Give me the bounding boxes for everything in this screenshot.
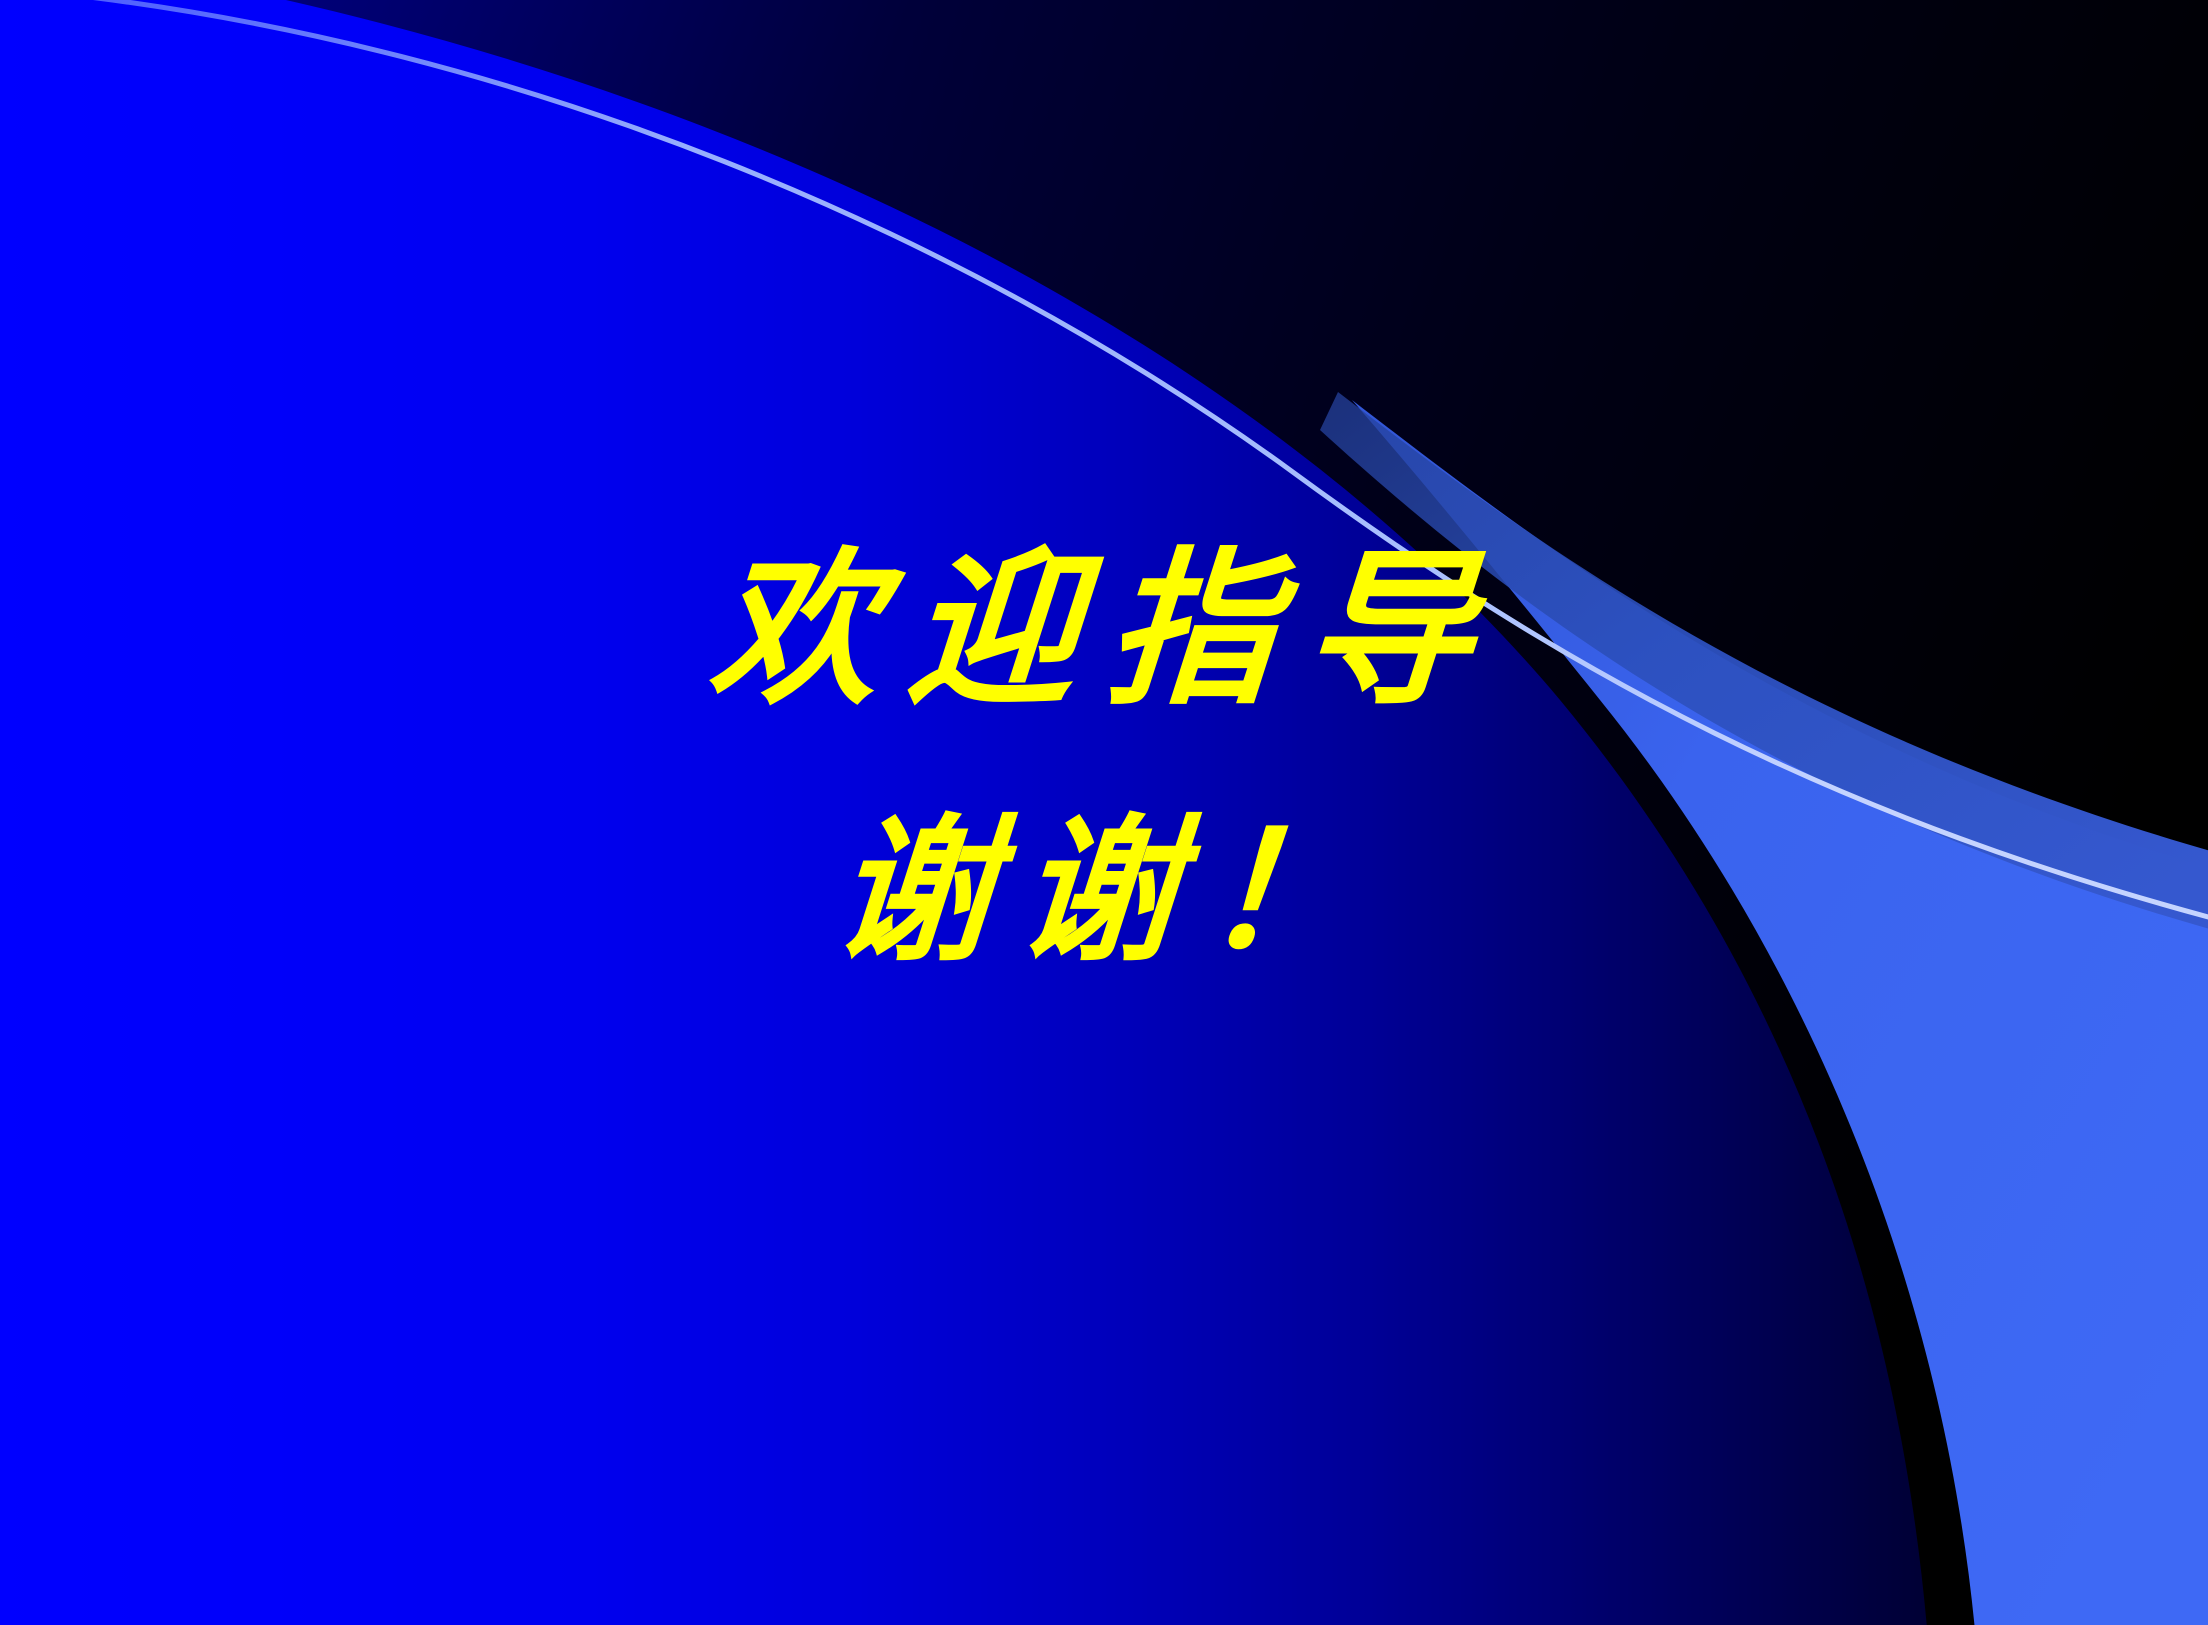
decorative-swoosh-group xyxy=(0,0,2208,1625)
slide-canvas: 欢迎指导 谢谢！ xyxy=(0,0,2208,1625)
